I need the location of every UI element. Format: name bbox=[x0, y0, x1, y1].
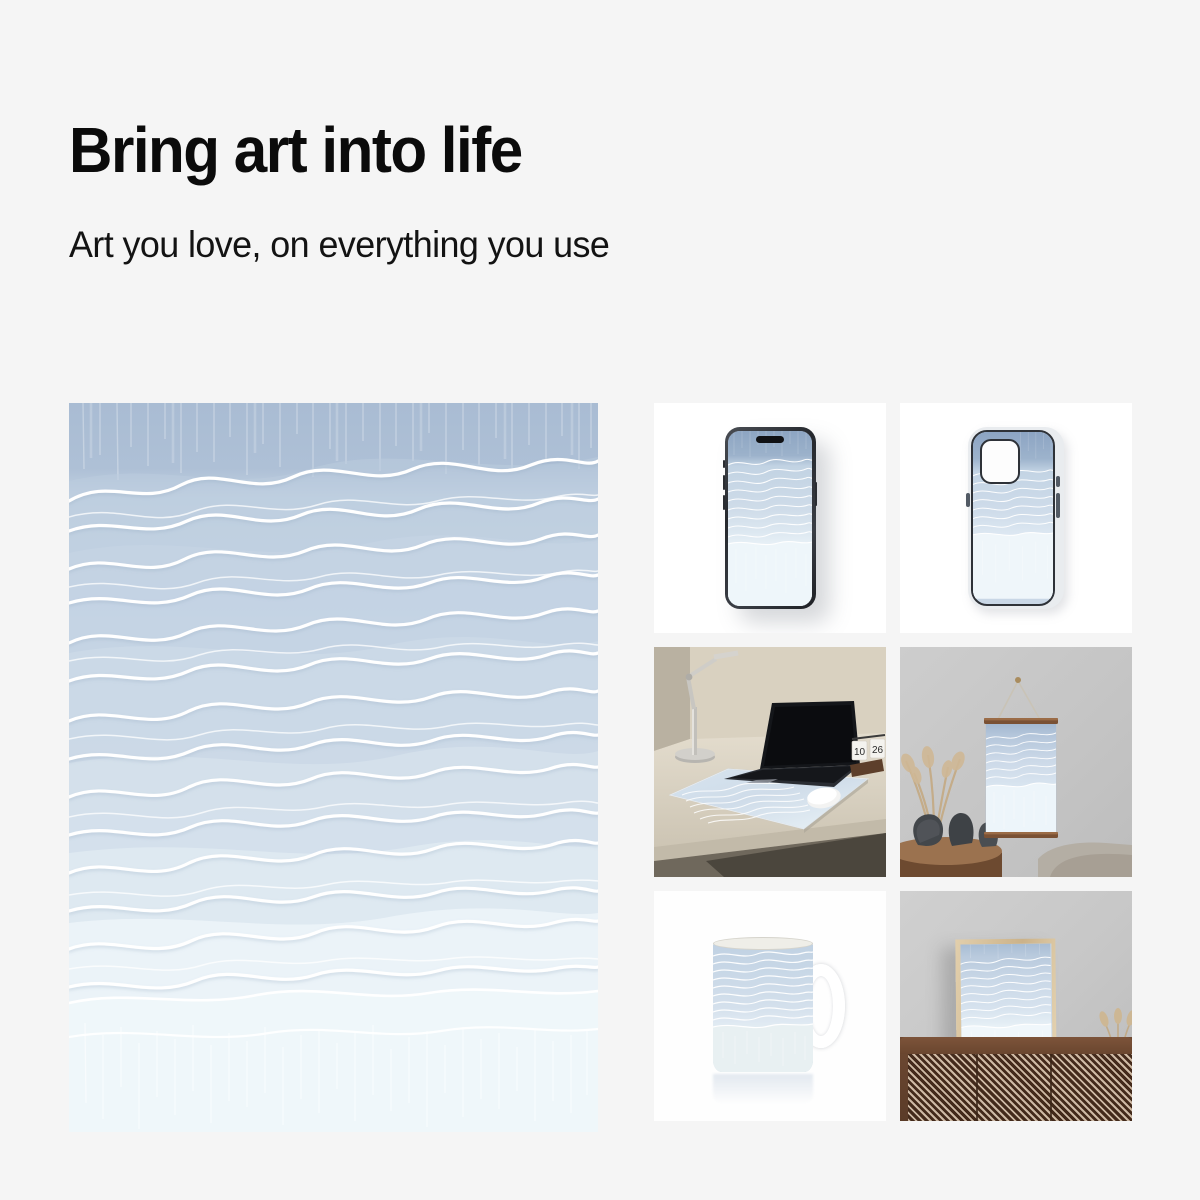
mug-rim bbox=[713, 937, 813, 950]
product-tile-desk-mat[interactable]: 10 26 bbox=[654, 647, 886, 877]
framed-print-icon bbox=[900, 891, 1132, 1121]
calendar-day-right: 26 bbox=[872, 745, 884, 756]
page-title: Bring art into life bbox=[69, 118, 915, 182]
phone-icon bbox=[654, 403, 886, 633]
mug-icon bbox=[654, 891, 886, 1121]
phone-volume-up-button bbox=[723, 475, 725, 490]
page-subtitle: Art you love, on everything you use bbox=[69, 182, 942, 265]
case-volume-button bbox=[1056, 476, 1060, 487]
sideboard-chevron-front bbox=[908, 1054, 1132, 1121]
phone-power-button bbox=[815, 482, 817, 506]
phone-case-icon bbox=[900, 403, 1132, 633]
product-tile-phone-case[interactable] bbox=[900, 403, 1132, 633]
case-power-button bbox=[1056, 493, 1060, 518]
product-showcase: 10 26 bbox=[69, 403, 1132, 1132]
artwork-canvas bbox=[69, 403, 598, 1132]
desk-mat-icon: 10 26 bbox=[654, 647, 886, 877]
product-tile-phone-wallpaper[interactable] bbox=[654, 403, 886, 633]
header: Bring art into life Art you love, on eve… bbox=[69, 118, 969, 265]
product-grid: 10 26 bbox=[654, 403, 1132, 1132]
sideboard-seam-right bbox=[1050, 1054, 1052, 1121]
mug-artwork bbox=[713, 942, 813, 1072]
product-tile-framed-print[interactable] bbox=[900, 891, 1132, 1121]
product-tile-ceramic-mug[interactable] bbox=[654, 891, 886, 1121]
phone-case-shell bbox=[968, 427, 1064, 609]
product-tile-hanging-poster[interactable] bbox=[900, 647, 1132, 877]
sideboard-seam-left bbox=[976, 1054, 978, 1121]
mug-object bbox=[713, 942, 813, 1074]
hero-artwork[interactable] bbox=[69, 403, 598, 1132]
mug-reflection bbox=[713, 1074, 813, 1104]
dynamic-island bbox=[756, 436, 784, 444]
sideboard-top bbox=[900, 1037, 1132, 1054]
phone-volume-down-button bbox=[723, 495, 725, 510]
phone-case-artwork bbox=[971, 430, 1055, 606]
poster-icon bbox=[900, 647, 1132, 877]
sideboard bbox=[900, 1037, 1132, 1121]
phone-device bbox=[725, 427, 816, 609]
calendar-day-left: 10 bbox=[854, 747, 866, 758]
camera-cutout bbox=[980, 439, 1020, 484]
case-side-button-left bbox=[966, 493, 970, 507]
phone-screen bbox=[728, 431, 812, 606]
phone-silent-switch bbox=[723, 460, 725, 468]
